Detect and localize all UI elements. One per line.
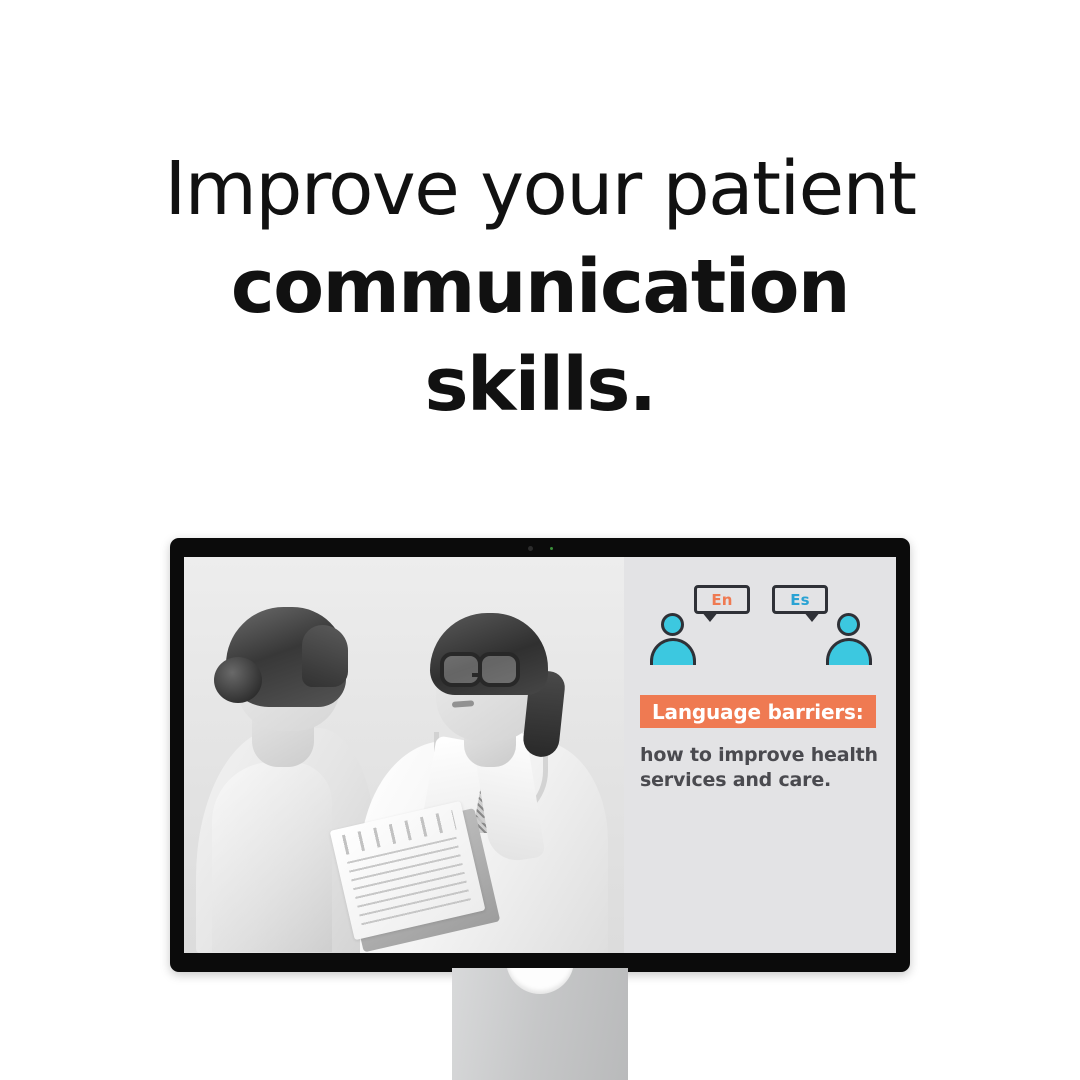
page-title: Improve your patient communication skill…	[0, 140, 1080, 434]
language-icon-row: En Es	[646, 585, 876, 665]
slide-banner: Language barriers:	[640, 695, 876, 728]
monitor-screen: En Es Language barriers: how to improve …	[184, 557, 896, 953]
page-title-line-1: Improve your patient	[0, 140, 1080, 238]
person-icon	[650, 613, 696, 665]
slide-graphic: En Es Language barriers: how to improve …	[624, 557, 896, 953]
eyeglasses-icon	[440, 652, 482, 687]
person-icon-body	[826, 638, 872, 665]
speech-bubble-en-label: En	[711, 591, 732, 609]
person-icon-head	[837, 613, 860, 636]
monitor-stand-notch	[506, 968, 574, 994]
monitor-stand	[452, 968, 628, 1080]
camera-icon	[528, 546, 533, 551]
slide-photo	[184, 557, 624, 953]
person-icon-body	[650, 638, 696, 665]
speech-bubble-es-label: Es	[790, 591, 810, 609]
status-led-icon	[550, 547, 553, 550]
page-title-line-3: skills.	[0, 336, 1080, 434]
patient-hair-bun	[214, 657, 262, 703]
slide-banner-label: Language barriers:	[652, 700, 864, 724]
speech-bubble-en: En	[694, 585, 750, 614]
slide-subtitle-line-1: how to improve health	[640, 743, 896, 768]
eyeglasses-icon	[478, 652, 520, 687]
person-icon-head	[661, 613, 684, 636]
page-title-line-2: communication	[0, 238, 1080, 336]
eyeglasses-bridge	[472, 673, 480, 677]
slide-subtitle: how to improve health services and care.	[640, 743, 896, 793]
monitor: En Es Language barriers: how to improve …	[170, 538, 910, 972]
slide-subtitle-line-2: services and care.	[640, 768, 896, 793]
speech-bubble-es: Es	[772, 585, 828, 614]
person-icon	[826, 613, 872, 665]
